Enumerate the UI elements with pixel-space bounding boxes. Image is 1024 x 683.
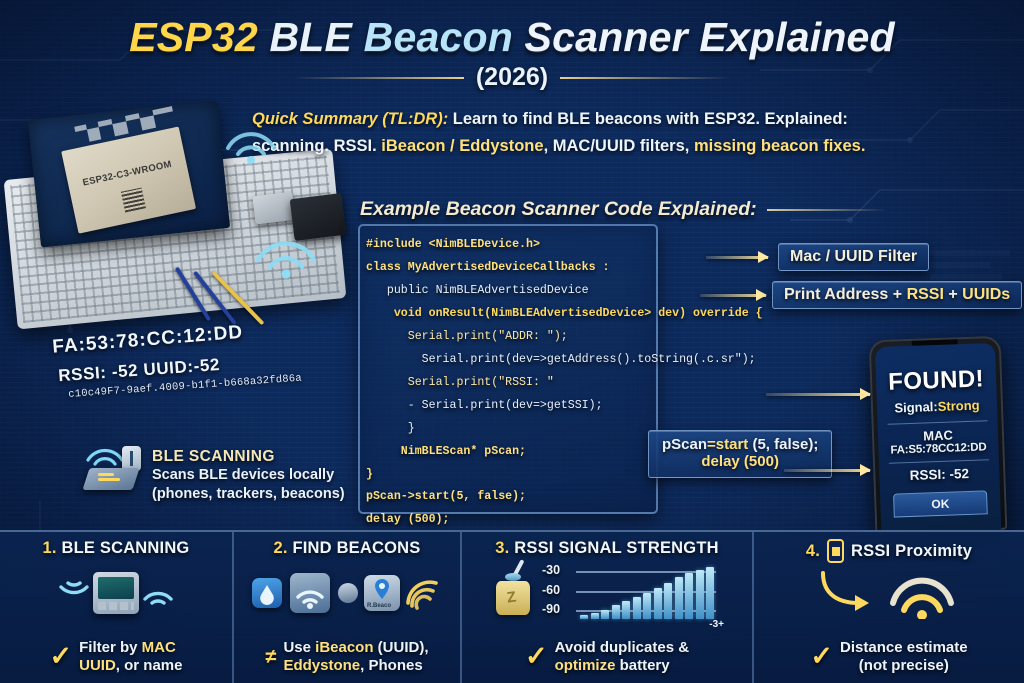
callout-mac-uuid-filter-text: Mac / UUID Filter	[790, 248, 917, 265]
phone-small-icon	[827, 539, 844, 563]
summary-line-2: scanning. RSSI. iBeacon / Eddystone, MAC…	[252, 133, 1012, 160]
phone-rssi-value: RSSI: -52	[909, 466, 969, 483]
summary-line2-d: missing beacon fixes.	[694, 137, 865, 155]
esp32-shield: ESP32-C3-WROOM	[61, 127, 196, 234]
chart-ytick-minus90: -90	[542, 602, 560, 616]
panel3-text-a: Avoid duplicates &	[555, 639, 689, 656]
code-line-5: Serial.print("ADDR: ");	[366, 326, 926, 349]
code-line-13: delay (500);	[366, 509, 926, 532]
ble-scanning-note: BLE SCANNING Scans BLE devices locally (…	[86, 446, 396, 503]
panel1-footer: ✓ Filter by MAC UUID, or name	[0, 639, 232, 675]
esp32-screen	[98, 577, 134, 599]
arrow-to-phone-bottom	[784, 469, 870, 472]
panel1-art	[0, 562, 232, 624]
subtitle-rule-left	[294, 77, 464, 79]
panel1-heading: 1. BLE SCANNING	[6, 539, 226, 558]
summary-line2-c: , MAC/UUID filters,	[544, 137, 694, 155]
curved-arrow-icon	[813, 569, 883, 617]
battery-icon: Z	[494, 571, 534, 615]
arrow-to-mac-uuid-filter	[706, 256, 768, 259]
chart-bars	[580, 567, 714, 619]
bottom-panel-find-beacons[interactable]: 2. FIND BEACONS R.Beaco	[232, 532, 460, 683]
code-line-12: pScan->start(5, false);	[366, 486, 926, 509]
phone-divider-2	[889, 459, 990, 464]
panel4-footer: ✓ Distance estimate (not precise)	[754, 639, 1024, 675]
router-icon	[86, 446, 142, 492]
code-line-10: NimBLEScan* pScan;	[366, 441, 926, 464]
code-line-7: Serial.print("RSSI: "	[366, 372, 926, 395]
panel4-heading: 4. RSSI Proximity	[760, 539, 1018, 563]
code-block: #include <NimBLEDevice.h>class MyAdverti…	[366, 234, 926, 532]
callout-print-address: Print Address + RSSI + UUIDs	[772, 281, 1022, 309]
ble-scanning-title: BLE SCANNING	[152, 448, 345, 466]
phone-mac-value: FA:S5:78CC12:DD	[890, 441, 986, 456]
panel4-text-b: (not precise)	[859, 657, 949, 674]
board-readout-overlay: FA:53:78:CC:12:DD RSSI: -52 UUID:-52 c10…	[52, 325, 352, 391]
callout-delay-a: delay	[701, 453, 739, 470]
panel2-art: R.Beaco	[234, 562, 460, 624]
panel1-text-a: Filter by	[79, 639, 142, 656]
summary-line-1: Quick Summary (TL:DR): Learn to find BLE…	[252, 106, 1012, 133]
module-label: ESP32-C3-WROOM	[82, 158, 173, 188]
chart-bar	[601, 610, 609, 619]
ibeacon-wordmark: R.Beaco	[367, 603, 391, 609]
panel1-title: BLE SCANNING	[61, 539, 189, 557]
panel4-number: 4.	[806, 542, 820, 561]
code-line-9: }	[366, 418, 926, 441]
callout-pscan-c: (5, false);	[748, 436, 818, 453]
chart-bar	[664, 583, 672, 619]
panel2-text-a: Use	[283, 639, 315, 656]
title-beacon: Beacon	[364, 14, 513, 60]
phone-mockup: FOUND! Signal:Strong MAC FA:S5:78CC12:DD…	[869, 336, 1008, 534]
phone-ok-button[interactable]: OK	[893, 490, 987, 517]
phone-signal-label: Signal:	[894, 399, 938, 416]
code-section-heading: Example Beacon Scanner Code Explained:	[360, 198, 887, 221]
panel3-number: 3.	[495, 539, 509, 557]
page-title: ESP32 BLE Beacon Scanner Explained	[0, 14, 1024, 61]
panel2-number: 2.	[274, 539, 288, 557]
chart-bar	[633, 597, 641, 619]
subtitle-row: (2026)	[0, 63, 1024, 92]
panel2-text-d: Eddystone	[283, 657, 360, 674]
chart-ytick-minus30: -30	[542, 563, 560, 577]
panel3-heading: 3. RSSI SIGNAL STRENGTH	[468, 539, 746, 558]
panel1-text-d: , or name	[116, 657, 183, 674]
router-led-2	[98, 473, 114, 476]
callout-pscan-a: pScan	[662, 436, 707, 453]
check-icon: ✓	[50, 646, 73, 668]
bottom-panel-ble-scanning[interactable]: 1. BLE SCANNING ✓ Filter by MAC	[0, 532, 232, 683]
beacon-app-icon	[252, 578, 282, 608]
panel2-heading: 2. FIND BEACONS	[240, 539, 454, 558]
panel2-text-c: (UUID),	[374, 639, 429, 656]
page-header: ESP32 BLE Beacon Scanner Explained (2026…	[0, 14, 1024, 92]
wifi-yellow-arcs-icon	[402, 573, 442, 613]
panel3-text-b: optimize	[555, 657, 616, 674]
ble-scanning-line2: (phones, trackers, beacons)	[152, 485, 345, 504]
callout-print-d: RSSI	[907, 286, 944, 303]
ble-scanning-line1: Scans BLE devices locally	[152, 466, 345, 485]
panel2-text-e: , Phones	[360, 657, 423, 674]
esp32-buttons	[98, 602, 134, 610]
phone-divider-1	[887, 420, 988, 425]
title-rest: Scanner Explained	[525, 14, 895, 60]
callout-print-e: +	[944, 286, 962, 303]
panel3-art: Z -30 -60 -90 -3+	[462, 562, 752, 624]
wifi-app-icon	[290, 573, 330, 613]
chart-bar	[685, 573, 693, 619]
check-icon: ✓	[525, 646, 548, 668]
callout-pscan-line1: pScan=start (5, false);	[662, 436, 818, 453]
panel1-text-b: MAC	[142, 639, 176, 656]
code-line-6: Serial.print(dev=>getAddress().toString(…	[366, 349, 926, 372]
check-icon: ✓	[810, 646, 833, 668]
phone-mac-label: MAC	[923, 427, 953, 443]
chart-bar	[591, 613, 599, 619]
chart-bar	[622, 601, 630, 619]
callout-mac-uuid-filter: Mac / UUID Filter	[778, 243, 929, 271]
panel4-art	[754, 562, 1024, 624]
panel3-footer: ✓ Avoid duplicates & optimize battery	[462, 639, 752, 675]
wifi-left-icon	[57, 573, 91, 613]
small-dot-icon	[338, 583, 358, 603]
router-led-1	[98, 478, 120, 481]
chart-ytick-minus60: -60	[542, 583, 560, 597]
callout-print-a: Print	[784, 286, 824, 303]
code-heading-text: Example Beacon Scanner Code Explained:	[360, 198, 757, 221]
callout-delay-b: (500)	[740, 453, 779, 470]
ibeacon-app-icon: R.Beaco	[364, 575, 400, 611]
panel1-text-c: UUID	[79, 657, 116, 674]
quick-summary: Quick Summary (TL:DR): Learn to find BLE…	[252, 106, 1012, 159]
phone-signal-row: Signal:Strong	[894, 398, 980, 416]
panel2-title: FIND BEACONS	[292, 539, 420, 557]
droplet-icon	[252, 578, 282, 608]
bottom-steps-strip: 1. BLE SCANNING ✓ Filter by MAC	[0, 530, 1024, 683]
phone-signal-value: Strong	[937, 398, 979, 414]
arrow-to-phone-top	[766, 393, 870, 396]
chart-bar	[580, 615, 588, 619]
callout-print-f: UUIDs	[962, 286, 1010, 303]
phone-found-label: FOUND!	[888, 365, 985, 396]
chart-bar	[675, 577, 683, 619]
callout-print-c: +	[888, 286, 906, 303]
code-heading-rule	[767, 209, 887, 211]
chart-bar	[696, 570, 704, 619]
panel1-number: 1.	[43, 539, 57, 557]
panel4-title: RSSI Proximity	[851, 542, 972, 561]
code-line-8: - Serial.print(dev=>getSSI);	[366, 395, 926, 418]
arrow-to-print-address	[700, 294, 766, 297]
chart-bar	[654, 588, 662, 619]
bottom-panel-rssi-proximity[interactable]: 4. RSSI Proximity ✓ Distance estimate (n…	[752, 532, 1024, 683]
wifi-arcs-module	[218, 108, 288, 168]
panel3-text: Avoid duplicates & optimize battery	[555, 639, 689, 675]
callout-pscan-b: =start	[707, 436, 748, 453]
bottom-panel-rssi-signal-strength[interactable]: 3. RSSI SIGNAL STRENGTH Z -30 -60 -90 -3…	[460, 532, 752, 683]
summary-line2-b: iBeacon / Eddystone	[381, 137, 543, 155]
battery-cap	[505, 573, 521, 581]
qr-code-icon	[121, 188, 146, 213]
location-pin-icon	[364, 576, 400, 602]
chart-annotation: -3+	[709, 619, 724, 630]
title-esp32: ESP32	[129, 14, 258, 60]
wifi-proximity-icon	[879, 567, 965, 619]
panel1-text: Filter by MAC UUID, or name	[79, 639, 182, 675]
panel3-title: RSSI SIGNAL STRENGTH	[514, 539, 718, 557]
panel2-text-b: iBeacon	[315, 639, 373, 656]
wifi-right-icon	[141, 573, 175, 613]
panel3-text-c: battery	[615, 657, 669, 674]
esp32-pcb: ESP32-C3-WROOM	[28, 100, 230, 247]
chart-bar	[643, 593, 651, 619]
chart-bar	[612, 605, 620, 619]
summary-line1-rest: Learn to find BLE beacons with ESP32. Ex…	[448, 110, 848, 128]
page-subtitle: (2026)	[476, 63, 548, 92]
phone-screen: FOUND! Signal:Strong MAC FA:S5:78CC12:DD…	[875, 343, 1001, 534]
panel4-text: Distance estimate (not precise)	[840, 639, 968, 675]
not-equal-icon: ≠	[265, 649, 276, 665]
panel2-footer: ≠ Use iBeacon (UUID), Eddystone, Phones	[234, 639, 460, 675]
panel2-text: Use iBeacon (UUID), Eddystone, Phones	[283, 639, 428, 675]
title-ble: BLE	[269, 14, 352, 60]
code-line-11: }	[366, 464, 926, 487]
esp32-device-icon	[93, 572, 139, 614]
chart-bar	[706, 567, 714, 619]
panel4-text-a: Distance estimate	[840, 639, 968, 656]
subtitle-rule-right	[560, 77, 730, 79]
ble-scanning-text: BLE SCANNING Scans BLE devices locally (…	[152, 446, 345, 503]
callout-pscan-line2: delay (500)	[662, 453, 818, 470]
callout-print-b: Address	[824, 286, 888, 303]
wifi-arcs-board	[250, 212, 330, 282]
wifi-glyph-icon	[290, 573, 330, 613]
rssi-bar-chart: -30 -60 -90 -3+	[542, 564, 720, 622]
